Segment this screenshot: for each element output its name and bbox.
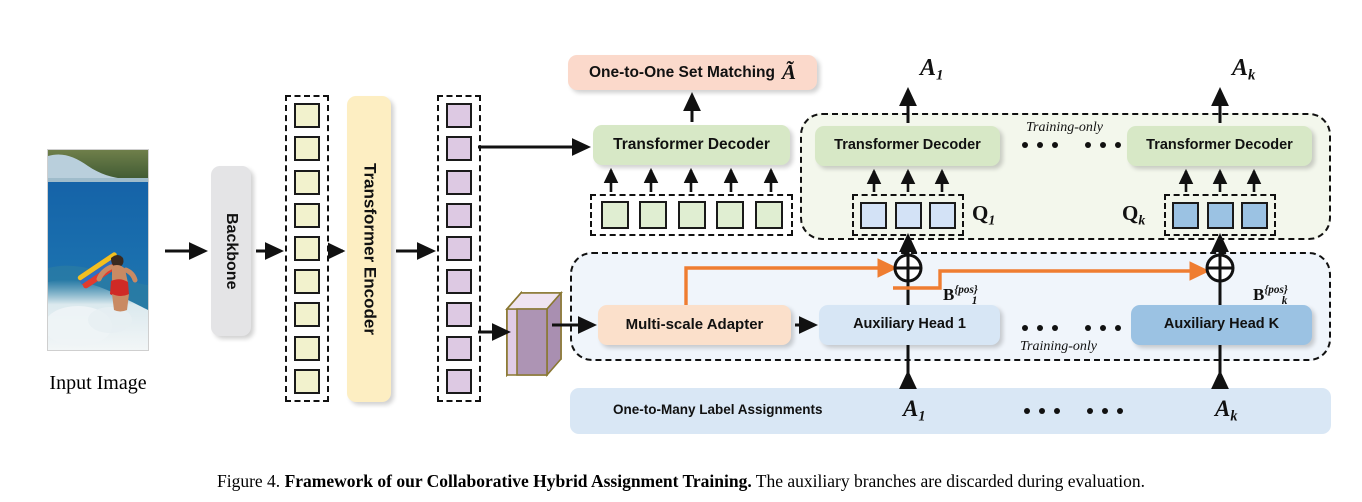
auxiliary-transformer-decoder-1-label: Transformer Decoder — [834, 138, 981, 154]
backbone-label: Backbone — [222, 213, 240, 289]
assignment-symbol-1: A1 — [903, 396, 925, 425]
auxiliary-output-symbol-k: Ak — [1232, 55, 1255, 84]
multi-scale-feature-map-icon — [503, 287, 565, 377]
output-sub-k: k — [1248, 67, 1255, 83]
backbone-feature-token — [294, 103, 320, 128]
encoder-output-token — [446, 203, 472, 228]
training-only-label-decoders: Training-only — [1026, 120, 1103, 136]
head-ellipsis-dots — [1022, 325, 1121, 331]
auxiliary-transformer-decoder-k-label: Transformer Decoder — [1146, 138, 1293, 154]
one-to-many-assignments-label: One-to-Many Label Assignments — [613, 402, 823, 417]
main-transformer-decoder-label: Transformer Decoder — [613, 136, 770, 153]
auxiliary-query-token — [1241, 202, 1268, 229]
one-to-one-set-matching-label: One-to-One Set Matching — [589, 64, 775, 81]
auxiliary-query-label-k: Qk — [1122, 201, 1145, 228]
auxiliary-head-k-label: Auxiliary Head K — [1164, 317, 1279, 333]
assignment-base-k: A — [1215, 396, 1230, 421]
auxiliary-query-label-1: Q1 — [972, 201, 995, 228]
backbone-feature-token-list — [285, 95, 329, 402]
output-base-k: A — [1232, 55, 1248, 81]
assignment-symbol-k: Ak — [1215, 396, 1237, 425]
query-base-k: Q — [1122, 201, 1138, 225]
main-query-token — [755, 201, 783, 229]
encoder-output-token — [446, 136, 472, 161]
figure-caption: Figure 4. Framework of our Collaborative… — [0, 471, 1362, 492]
encoder-output-token — [446, 302, 472, 327]
main-transformer-decoder-block[interactable]: Transformer Decoder — [593, 125, 790, 165]
auxiliary-query-token — [1207, 202, 1234, 229]
auxiliary-query-token — [895, 202, 922, 229]
main-query-token — [678, 201, 706, 229]
input-image-photo — [48, 150, 148, 350]
transformer-encoder-label: Transformer Encoder — [360, 163, 379, 335]
auxiliary-head-k-block[interactable]: Auxiliary Head K — [1131, 305, 1312, 345]
main-query-token — [601, 201, 629, 229]
box-position-label-k: B{pos}k — [1253, 284, 1287, 307]
auxiliary-transformer-decoder-1[interactable]: Transformer Decoder — [815, 126, 1000, 166]
backbone-feature-token — [294, 269, 320, 294]
assignments-ellipsis-dots — [1024, 408, 1123, 414]
encoder-output-token — [446, 269, 472, 294]
auxiliary-query-token — [929, 202, 956, 229]
backbone-block[interactable]: Backbone — [211, 166, 251, 336]
backbone-feature-token — [294, 170, 320, 195]
auxiliary-query-token-list-k — [1164, 194, 1276, 236]
encoder-output-token — [446, 369, 472, 394]
caption-prefix: Figure 4. — [217, 471, 280, 491]
figure-canvas: Input Image Backbone Transformer Encoder — [0, 0, 1362, 502]
transformer-encoder-block[interactable]: Transformer Encoder — [347, 96, 391, 402]
encoder-output-token-list — [437, 95, 481, 402]
box-base-k: B — [1253, 285, 1264, 304]
query-sub-k: k — [1138, 212, 1145, 227]
main-query-token — [639, 201, 667, 229]
query-sub-1: 1 — [988, 212, 995, 227]
auxiliary-query-token — [860, 202, 887, 229]
assignment-sub-1: 1 — [918, 408, 925, 424]
encoder-output-token — [446, 336, 472, 361]
training-only-label-heads: Training-only — [1020, 339, 1097, 355]
backbone-feature-token — [294, 369, 320, 394]
backbone-feature-token — [294, 203, 320, 228]
matching-symbol: Ã — [782, 61, 796, 84]
auxiliary-output-symbol-1: A1 — [920, 55, 943, 84]
output-sub-1: 1 — [936, 67, 943, 83]
auxiliary-transformer-decoder-k[interactable]: Transformer Decoder — [1127, 126, 1312, 166]
box-sub-1: 1 — [972, 295, 978, 307]
encoder-output-token — [446, 103, 472, 128]
box-base-1: B — [943, 285, 954, 304]
auxiliary-head-1-block[interactable]: Auxiliary Head 1 — [819, 305, 1000, 345]
backbone-feature-token — [294, 302, 320, 327]
decoder-ellipsis-dots — [1022, 142, 1121, 148]
backbone-feature-token — [294, 236, 320, 261]
auxiliary-head-1-label: Auxiliary Head 1 — [853, 317, 966, 333]
main-query-token — [716, 201, 744, 229]
auxiliary-query-token-list-1 — [852, 194, 964, 236]
output-base-1: A — [920, 55, 936, 81]
multi-scale-adapter-block[interactable]: Multi-scale Adapter — [598, 305, 791, 345]
input-image-label: Input Image — [48, 372, 148, 395]
encoder-output-token — [446, 236, 472, 261]
caption-bold: Framework of our Collaborative Hybrid As… — [285, 471, 752, 491]
assignment-sub-k: k — [1230, 408, 1237, 424]
auxiliary-query-token — [1172, 202, 1199, 229]
box-position-label-1: B{pos}1 — [943, 284, 977, 307]
backbone-feature-token — [294, 136, 320, 161]
caption-rest: The auxiliary branches are discarded dur… — [756, 471, 1145, 491]
one-to-one-set-matching-block[interactable]: One-to-One Set Matching Ã — [568, 55, 817, 90]
box-sub-k: k — [1282, 295, 1288, 307]
main-query-token-list — [590, 194, 793, 236]
assignment-base-1: A — [903, 396, 918, 421]
encoder-output-token — [446, 170, 472, 195]
query-base-1: Q — [972, 201, 988, 225]
backbone-feature-token — [294, 336, 320, 361]
multi-scale-adapter-label: Multi-scale Adapter — [626, 317, 764, 334]
